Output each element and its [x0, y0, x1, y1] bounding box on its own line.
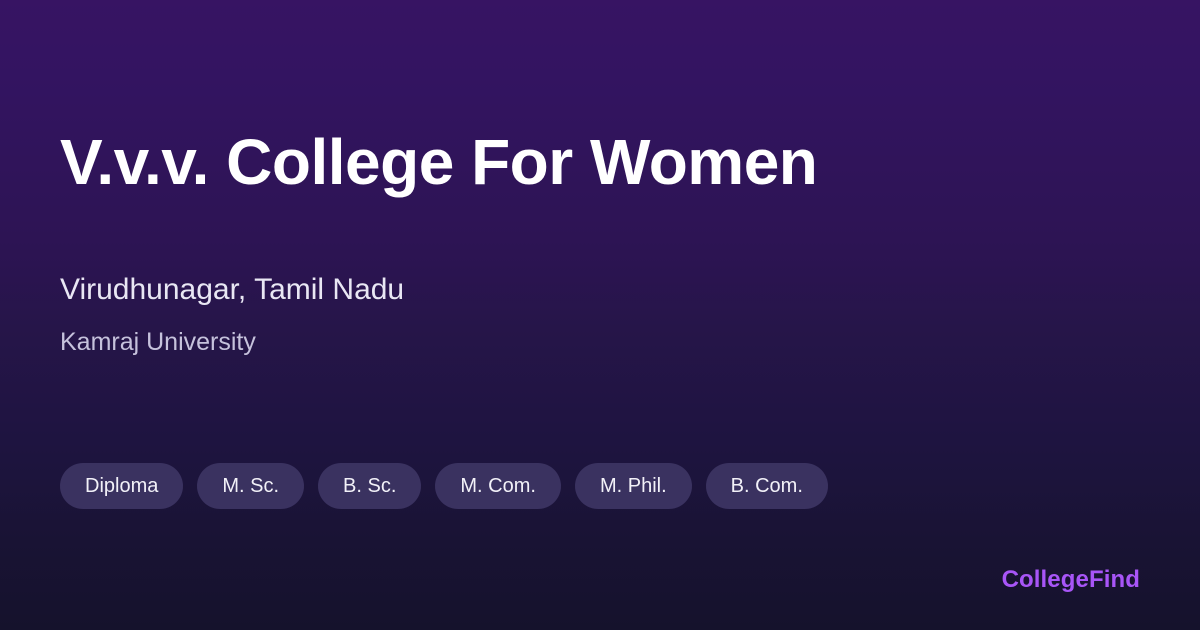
- course-tag-diploma[interactable]: Diploma: [60, 463, 183, 509]
- college-location: Virudhunagar, Tamil Nadu: [60, 272, 404, 308]
- course-tag-msc[interactable]: M. Sc.: [197, 463, 304, 509]
- course-tag-bcom[interactable]: B. Com.: [706, 463, 828, 509]
- course-tag-mphil[interactable]: M. Phil.: [575, 463, 692, 509]
- brand-logo-text: CollegeFind: [1002, 566, 1140, 594]
- course-tag-mcom[interactable]: M. Com.: [435, 463, 561, 509]
- course-tag-list: Diploma M. Sc. B. Sc. M. Com. M. Phil. B…: [60, 463, 828, 509]
- page-title: V.v.v. College For Women: [60, 127, 817, 197]
- course-tag-bsc[interactable]: B. Sc.: [318, 463, 421, 509]
- college-summary-card: V.v.v. College For Women Virudhunagar, T…: [0, 0, 1200, 630]
- card-content: V.v.v. College For Women Virudhunagar, T…: [60, 0, 1140, 630]
- affiliated-university: Kamraj University: [60, 327, 256, 357]
